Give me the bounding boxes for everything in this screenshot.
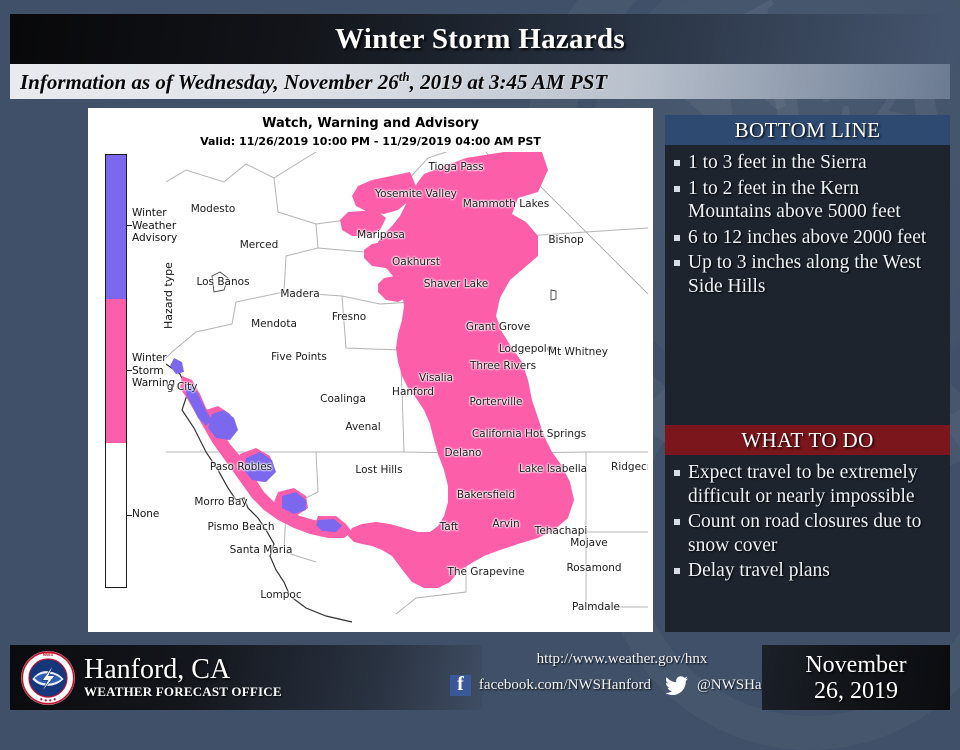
legend-colorbar	[105, 154, 127, 588]
list-item: 6 to 12 inches above 2000 feet	[671, 226, 942, 250]
map-city-label: Lompoc	[260, 589, 301, 601]
footer-office-names: Hanford, CA WEATHER FORECAST OFFICE	[84, 655, 282, 700]
list-item: Up to 3 inches along the West Side Hills	[671, 251, 942, 298]
map-city-label: Palmdale	[572, 601, 620, 613]
header-subtitle-bar: Information as of Wednesday, November 26…	[10, 64, 950, 99]
map-city-label: Fresno	[332, 311, 366, 323]
facebook-icon[interactable]	[450, 675, 471, 696]
timestamp-pre: Information as of Wednesday, November 26	[20, 70, 399, 94]
twitter-icon[interactable]	[665, 676, 689, 696]
map-city-label: Madera	[280, 288, 319, 300]
footer: NWS Hanford, CA WEATHER FORECAST OFFICE …	[10, 645, 950, 710]
list-item: Delay travel plans	[671, 559, 942, 583]
map-city-label: Mt Whitney	[548, 346, 608, 358]
map-city-label: Three Rivers	[470, 360, 536, 372]
map-city-label: California Hot Springs	[472, 428, 586, 440]
map-city-label: Bakersfield	[457, 489, 515, 501]
map-city-label: Mammoth Lakes	[463, 198, 549, 210]
map-city-label: Tehachapi	[535, 525, 588, 537]
list-item: Count on road closures due to snow cover	[671, 510, 942, 557]
bottom-line-body: 1 to 3 feet in the Sierra 1 to 2 feet in…	[665, 145, 950, 428]
what-to-do-heading: WHAT TO DO	[665, 425, 950, 455]
hazard-type-legend: Winter Weather Advisory Winter Storm War…	[100, 154, 172, 594]
list-item: 1 to 2 feet in the Kern Mountains above …	[671, 177, 942, 224]
map-city-label: Tioga Pass	[428, 161, 483, 173]
map-city-label: Bishop	[548, 234, 583, 246]
footer-office-block: NWS Hanford, CA WEATHER FORECAST OFFICE	[10, 645, 482, 710]
bottom-line-heading: BOTTOM LINE	[665, 115, 950, 145]
map-city-label: Paso Robles	[210, 461, 272, 473]
map-city-label: Avenal	[345, 421, 380, 433]
map-city-label: Ridgecrest	[611, 461, 648, 473]
office-subtitle: WEATHER FORECAST OFFICE	[84, 684, 282, 700]
facebook-handle[interactable]: facebook.com/NWSHanford	[479, 677, 651, 694]
map-city-label: Taft	[440, 521, 459, 533]
map-city-label: Mendota	[251, 318, 297, 330]
map-city-label: Lake Isabella	[519, 463, 587, 475]
footer-date-block: November 26, 2019	[762, 645, 950, 710]
list-item: 1 to 3 feet in the Sierra	[671, 151, 942, 175]
map-city-label: Five Points	[271, 351, 327, 363]
map-city-label: Lodgepole	[499, 343, 553, 355]
list-item: Expect travel to be extremely difficult …	[671, 461, 942, 508]
map-city-label: Los Banos	[196, 276, 249, 288]
legend-swatch-warning	[106, 299, 126, 443]
map-city-label: Modesto	[191, 203, 236, 215]
map-title: Watch, Warning and Advisory	[88, 116, 653, 131]
map-city-label: King City	[166, 381, 198, 393]
map-city-label: Mojave	[570, 537, 608, 549]
hazard-map-panel: Watch, Warning and Advisory Valid: 11/26…	[88, 108, 653, 632]
footer-date-line2: 26, 2019	[814, 678, 898, 704]
page-title: Winter Storm Hazards	[335, 23, 625, 56]
social-links-row: facebook.com/NWSHanford @NWSHanford	[482, 675, 762, 696]
map-valid-period: Valid: 11/26/2019 10:00 PM - 11/29/2019 …	[88, 135, 653, 148]
office-name: Hanford, CA	[84, 655, 282, 684]
map-city-label: Merced	[240, 239, 279, 251]
footer-date-line1: November	[805, 652, 906, 678]
map-city-label: Grant Grove	[466, 321, 530, 333]
website-url[interactable]: http://www.weather.gov/hnx	[482, 651, 762, 668]
map-city-label: Shaver Lake	[424, 278, 489, 290]
map-city-label: Coalinga	[320, 393, 366, 405]
map-city-label: Yosemite Valley	[375, 188, 457, 200]
bottom-line-panel: BOTTOM LINE 1 to 3 feet in the Sierra 1 …	[665, 115, 950, 428]
footer-contact-block: http://www.weather.gov/hnx facebook.com/…	[482, 645, 762, 710]
timestamp-ordinal: th	[399, 69, 410, 84]
map-city-label: Arvin	[492, 518, 519, 530]
map-city-label: Hanford	[392, 386, 434, 398]
map-city-label: Mariposa	[357, 229, 405, 241]
map-city-label: Morro Bay	[194, 496, 247, 508]
map-city-label: Oakhurst	[392, 256, 440, 268]
header-title-bar: Winter Storm Hazards	[10, 14, 950, 64]
legend-swatch-none	[106, 443, 126, 587]
what-to-do-panel: WHAT TO DO Expect travel to be extremely…	[665, 425, 950, 632]
map-city-label: The Grapevine	[447, 566, 524, 578]
map-canvas: ModestoTioga PassYosemite ValleyMammoth …	[166, 152, 648, 624]
map-city-label: Porterville	[469, 396, 522, 408]
map-city-label: Rosamond	[566, 562, 621, 574]
legend-label-none: None	[132, 508, 159, 521]
nws-seal-icon: NWS	[20, 650, 76, 706]
map-city-label: Santa Maria	[230, 544, 293, 556]
timestamp-post: , 2019 at 3:45 AM PST	[410, 70, 608, 94]
what-to-do-list: Expect travel to be extremely difficult …	[671, 461, 942, 583]
map-city-label: Visalia	[419, 372, 453, 384]
information-timestamp: Information as of Wednesday, November 26…	[10, 69, 607, 95]
bottom-line-list: 1 to 3 feet in the Sierra 1 to 2 feet in…	[671, 151, 942, 298]
map-city-label: Pismo Beach	[207, 521, 274, 533]
map-city-label: Delano	[445, 447, 482, 459]
legend-swatch-advisory	[106, 155, 126, 299]
what-to-do-body: Expect travel to be extremely difficult …	[665, 455, 950, 632]
map-city-label: Lost Hills	[355, 464, 402, 476]
svg-text:NWS: NWS	[43, 652, 53, 657]
